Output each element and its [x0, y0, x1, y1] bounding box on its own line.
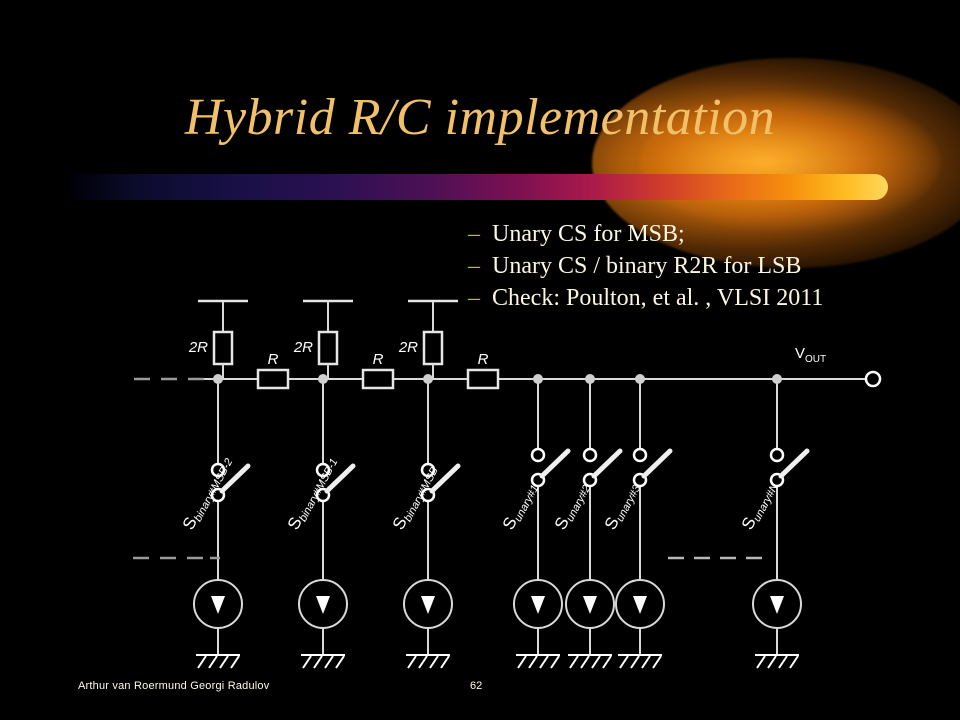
node-dot	[585, 374, 595, 384]
switches	[212, 449, 807, 501]
ground-icon	[406, 655, 450, 668]
switch-unary-1	[532, 449, 568, 486]
node-dot	[533, 374, 543, 384]
arrow-down-icon	[421, 596, 435, 614]
vout-label-main: V	[795, 345, 805, 362]
ground-icon	[755, 655, 799, 668]
switch-unary-n	[771, 449, 807, 486]
arrow-down-icon	[770, 596, 784, 614]
label-R-2: R	[373, 351, 384, 368]
switch-terminal-icon	[771, 449, 783, 461]
node-dot	[635, 374, 645, 384]
resistor-2R-3	[424, 332, 442, 364]
switch-label-unary-2: Sunary#2	[551, 479, 594, 534]
resistor-2R-1	[214, 332, 232, 364]
arrow-down-icon	[211, 596, 225, 614]
switch-label-unary-n: Sunary#N	[738, 477, 781, 534]
label-R-1: R	[268, 351, 279, 368]
switch-unary-2	[584, 449, 620, 486]
label-2R-1: 2R	[188, 339, 208, 356]
ground-icon	[196, 655, 240, 668]
footer-page-number: 62	[470, 680, 482, 692]
ground-icon	[516, 655, 560, 668]
vout-label-sub: OUT	[805, 354, 826, 365]
node-dot	[772, 374, 782, 384]
switch-lever-icon	[781, 451, 807, 476]
arrow-down-icon	[583, 596, 597, 614]
node-dot	[318, 374, 328, 384]
arrow-down-icon	[633, 596, 647, 614]
resistor-R-3	[468, 370, 498, 388]
label-R-3: R	[478, 351, 489, 368]
resistor-R-1	[258, 370, 288, 388]
switch-terminal-icon	[634, 449, 646, 461]
switch-terminal-icon	[584, 449, 596, 461]
switch-label-binary-msb-1: Sbinary#MSB-1	[284, 452, 341, 533]
switch-lever-icon	[594, 451, 620, 476]
ground-symbols	[196, 655, 799, 668]
node-dot	[213, 374, 223, 384]
footer-author: Arthur van Roermund Georgi Radulov	[78, 680, 269, 692]
ground-icon	[301, 655, 345, 668]
resistor-R-2	[363, 370, 393, 388]
arrow-down-icon	[316, 596, 330, 614]
node-dot	[423, 374, 433, 384]
arrow-down-icon	[531, 596, 545, 614]
resistor-2R-2	[319, 332, 337, 364]
ground-icon	[568, 655, 612, 668]
switch-label-binary-msb-2: Sbinary#MSB-2	[179, 452, 236, 533]
ground-icon	[618, 655, 662, 668]
switch-terminal-icon	[532, 449, 544, 461]
current-source-arrows	[211, 596, 784, 614]
switch-label-unary-1: Sunary#1	[499, 479, 542, 534]
switch-lever-icon	[542, 451, 568, 476]
switch-lever-icon	[644, 451, 670, 476]
switch-unary-3	[634, 449, 670, 486]
label-2R-2: 2R	[293, 339, 313, 356]
r2r-hybrid-circuit-diagram: 2R 2R 2R R R R VOUT Sbinary#MSB-2 Sbinar…	[0, 0, 960, 720]
vout-label: VOUT	[795, 345, 826, 365]
current-source-group	[194, 580, 801, 628]
switch-label-unary-3: Sunary#3	[601, 478, 644, 534]
slide-canvas: Hybrid R/C implementation – Unary CS for…	[0, 0, 960, 720]
slide-footer: Arthur van Roermund Georgi Radulov 62	[0, 680, 960, 702]
label-2R-3: 2R	[398, 339, 418, 356]
vout-terminal-icon	[866, 372, 880, 386]
